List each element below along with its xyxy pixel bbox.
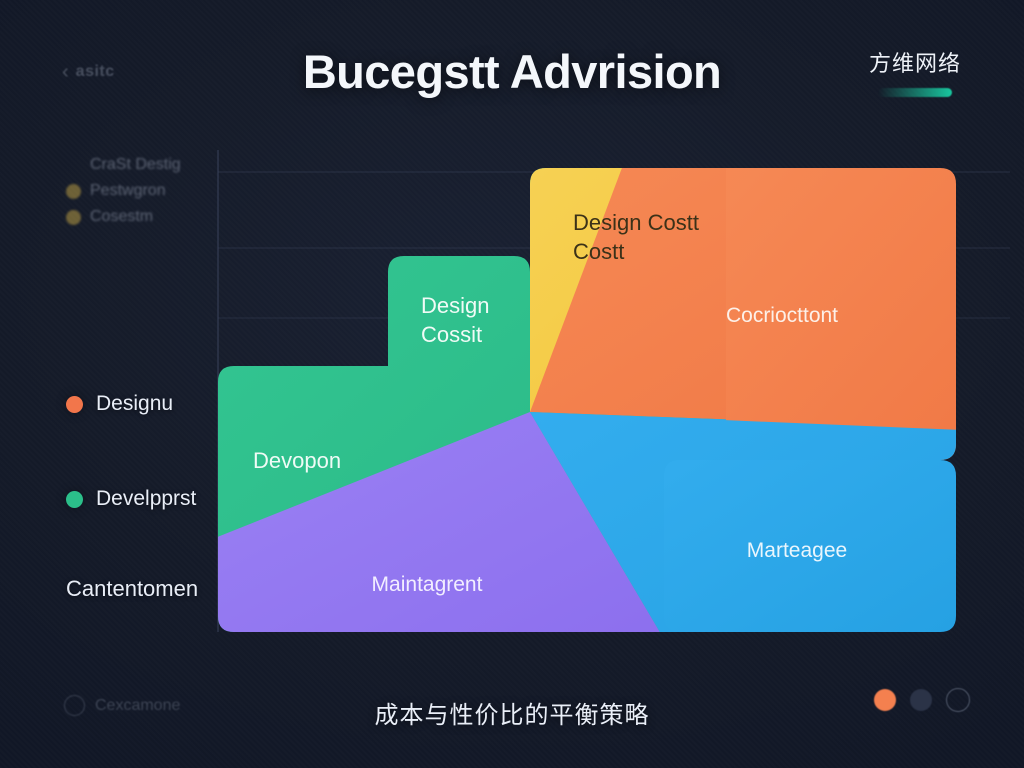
- segment-marteagee[interactable]: [530, 412, 1010, 700]
- legend-item-content[interactable]: Cantentomen: [66, 576, 198, 602]
- segment-label-devopon: Devopon: [253, 448, 341, 473]
- legend-item[interactable]: Cosestm: [66, 204, 181, 230]
- chart-caption: 成本与性价比的平衡策略: [0, 695, 1024, 730]
- legend-item-label: Cosestm: [90, 208, 153, 226]
- segment-label-maintagrent: Maintagrent: [372, 573, 483, 596]
- legend-item-design[interactable]: Designu: [66, 392, 173, 416]
- chart-segment-labels: Design Costt Costt Cocriocttont Marteage…: [253, 210, 847, 596]
- legend-item-label: Develpprst: [96, 487, 196, 511]
- watermark-accent-bar: [878, 88, 952, 97]
- segment-marteagee-overlap[interactable]: [530, 412, 1010, 700]
- segment-label-design-costt: Design Costt: [573, 210, 699, 235]
- legend-dot-icon: [66, 396, 83, 413]
- watermark: 方维网络: [850, 46, 980, 97]
- segment-label-cocriocttont: Cocriocttont: [726, 304, 838, 327]
- page-dot-active[interactable]: [874, 689, 896, 711]
- clock-circle-icon[interactable]: [946, 688, 970, 712]
- segment-cocriocttont[interactable]: [530, 120, 1010, 430]
- cost-breakdown-chart: Design Costt Costt Cocriocttont Marteage…: [0, 0, 1024, 768]
- legend-dot-icon: [66, 210, 81, 225]
- legend-dot-icon: [66, 184, 81, 199]
- segment-label-design-cossit-line2: Cossit: [421, 322, 482, 347]
- legend-item-label: Pestwgron: [90, 182, 166, 200]
- secondary-legend: CraSt Destig Pestwgron Cosestm: [66, 152, 181, 230]
- page-dot-inactive[interactable]: [910, 689, 932, 711]
- legend-dot-icon: [66, 491, 83, 508]
- chart-left-stack: [160, 120, 1010, 700]
- chart-right-top-panel: [530, 150, 1010, 700]
- segment-label-design-cossit: Design: [421, 293, 489, 318]
- segment-design-costt[interactable]: [530, 120, 820, 412]
- legend-item-develop[interactable]: Develpprst: [66, 487, 196, 511]
- legend-item-label: Cantentomen: [66, 576, 198, 602]
- segment-label-design-costt-line2: Costt: [573, 239, 624, 264]
- legend-item[interactable]: CraSt Destig: [66, 152, 181, 178]
- chart-gridlines: [218, 150, 1010, 632]
- app-background: ‹ asitc Bucegstt Advrision 方维网络 CraSt De…: [0, 0, 1024, 768]
- legend-item-label: Designu: [96, 392, 173, 416]
- segment-maintagrent[interactable]: [160, 412, 700, 700]
- chart-right-bottom-panel: [650, 450, 970, 650]
- legend-item[interactable]: Pestwgron: [66, 178, 181, 204]
- pagination-controls[interactable]: [874, 688, 970, 712]
- segment-label-marteagee: Marteagee: [747, 539, 847, 562]
- legend-item-label: CraSt Destig: [90, 156, 181, 174]
- watermark-text: 方维网络: [850, 46, 980, 78]
